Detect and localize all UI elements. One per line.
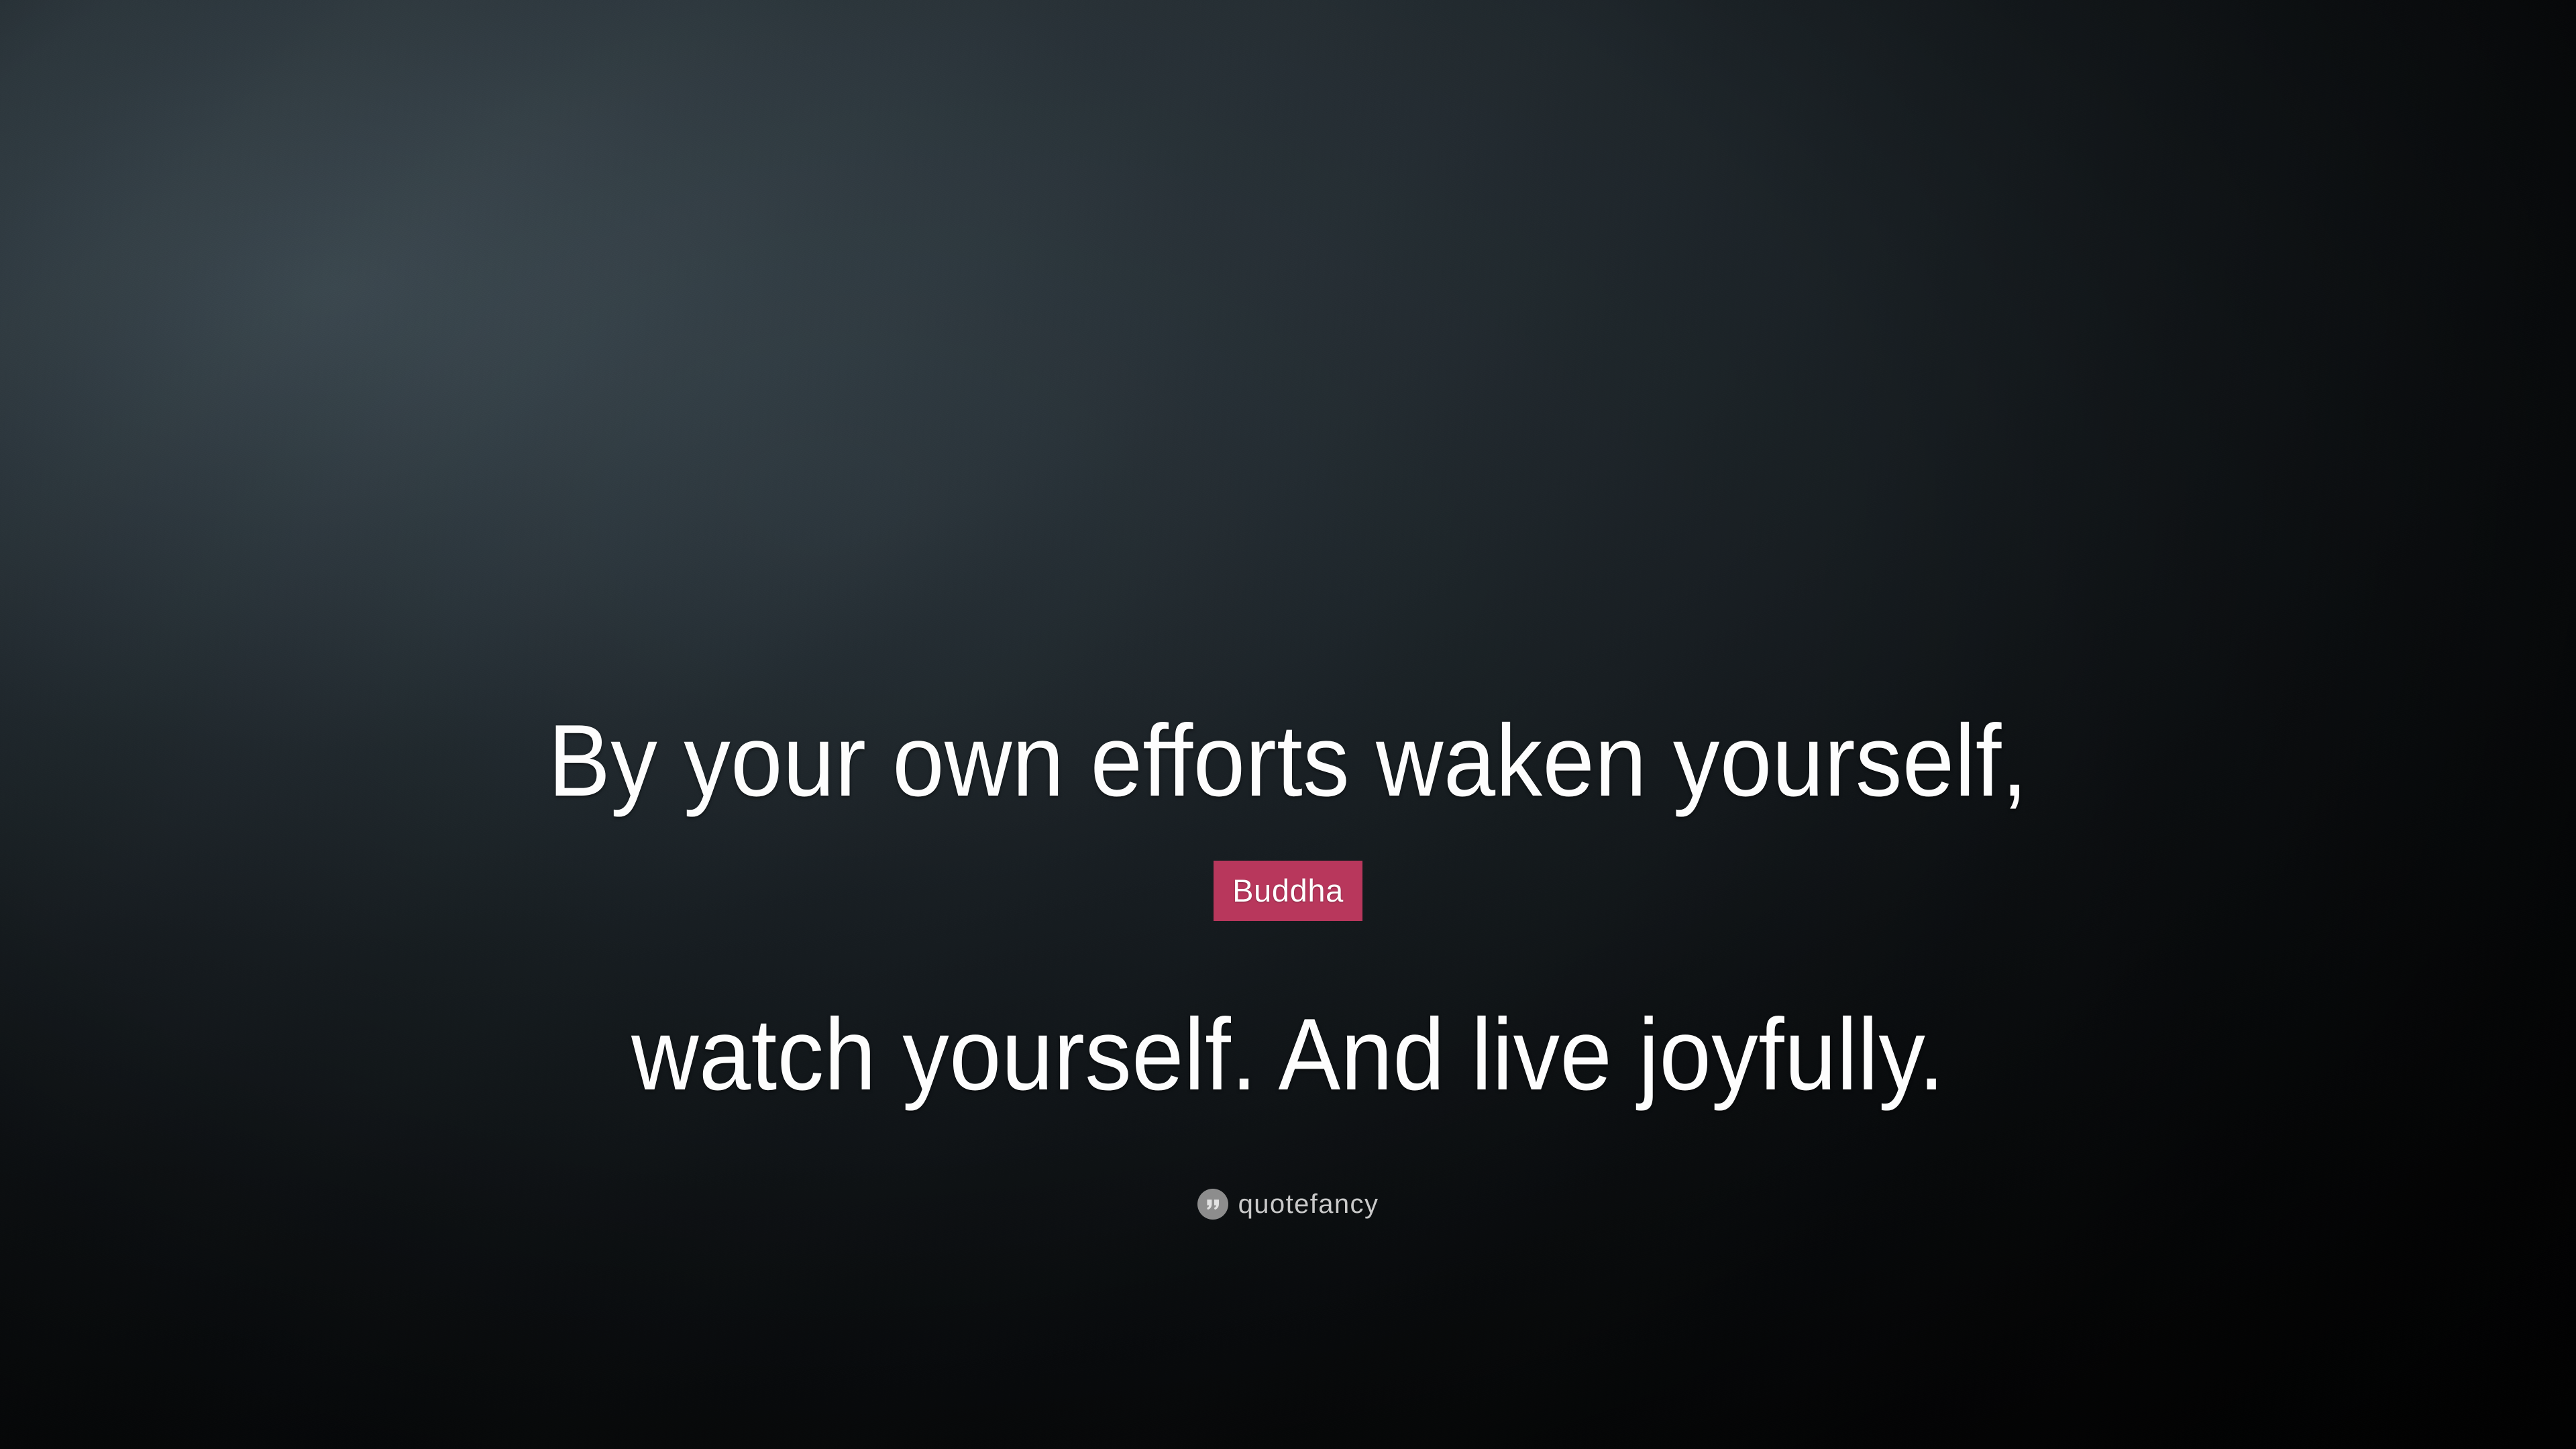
quotefancy-wordmark: quotefancy <box>1238 1191 1379 1218</box>
quote-line-1: By your own efforts waken yourself, <box>109 688 2467 835</box>
quotefancy-logo[interactable]: quotefancy <box>0 1189 2576 1220</box>
quote-line-2: watch yourself. And live joyfully. <box>109 981 2467 1128</box>
author-badge[interactable]: Buddha <box>1214 861 1362 921</box>
author-attribution: Buddha <box>0 861 2576 921</box>
quote-wallpaper: By your own efforts waken yourself, watc… <box>0 0 2576 1449</box>
content-layer: By your own efforts waken yourself, watc… <box>0 0 2576 1449</box>
quote-mark-icon <box>1197 1189 1228 1220</box>
